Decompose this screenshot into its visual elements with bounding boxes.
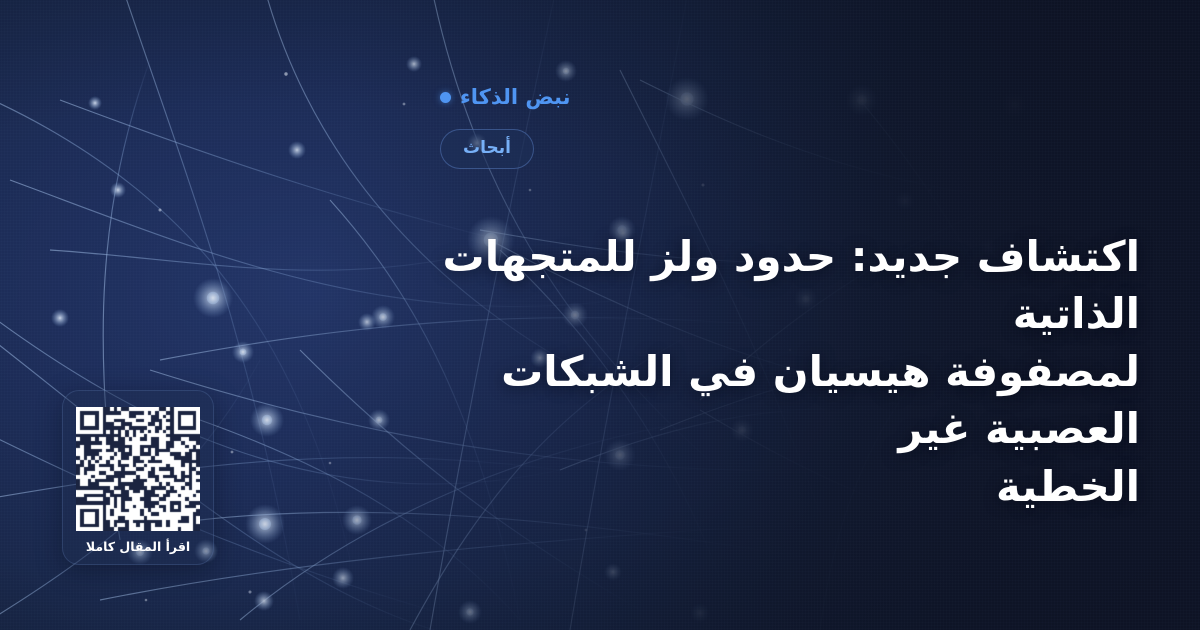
brand-dot-icon <box>440 92 451 103</box>
qr-panel[interactable]: اقرأ المقال كاملا <box>62 390 214 566</box>
social-share-card: نبض الذكاء أبحاث اكتشاف جديد: حدود ولز ل… <box>0 0 1200 630</box>
brand: نبض الذكاء <box>440 87 570 108</box>
category-badge[interactable]: أبحاث <box>440 129 534 169</box>
headline-line-2: لمصفوفة هيسيان في الشبكات العصبية غير <box>440 343 1140 458</box>
qr-code-icon[interactable] <box>76 407 200 531</box>
category-badge-label: أبحاث <box>463 140 511 157</box>
qr-caption: اقرأ المقال كاملا <box>86 541 190 554</box>
headline-line-1: اكتشاف جديد: حدود ولز للمتجهات الذاتية <box>440 228 1140 343</box>
page-title: اكتشاف جديد: حدود ولز للمتجهات الذاتية ل… <box>440 228 1140 516</box>
card-content: نبض الذكاء أبحاث اكتشاف جديد: حدود ولز ل… <box>440 0 1200 630</box>
headline-line-3: الخطية <box>440 458 1140 516</box>
brand-name: نبض الذكاء <box>460 87 570 108</box>
